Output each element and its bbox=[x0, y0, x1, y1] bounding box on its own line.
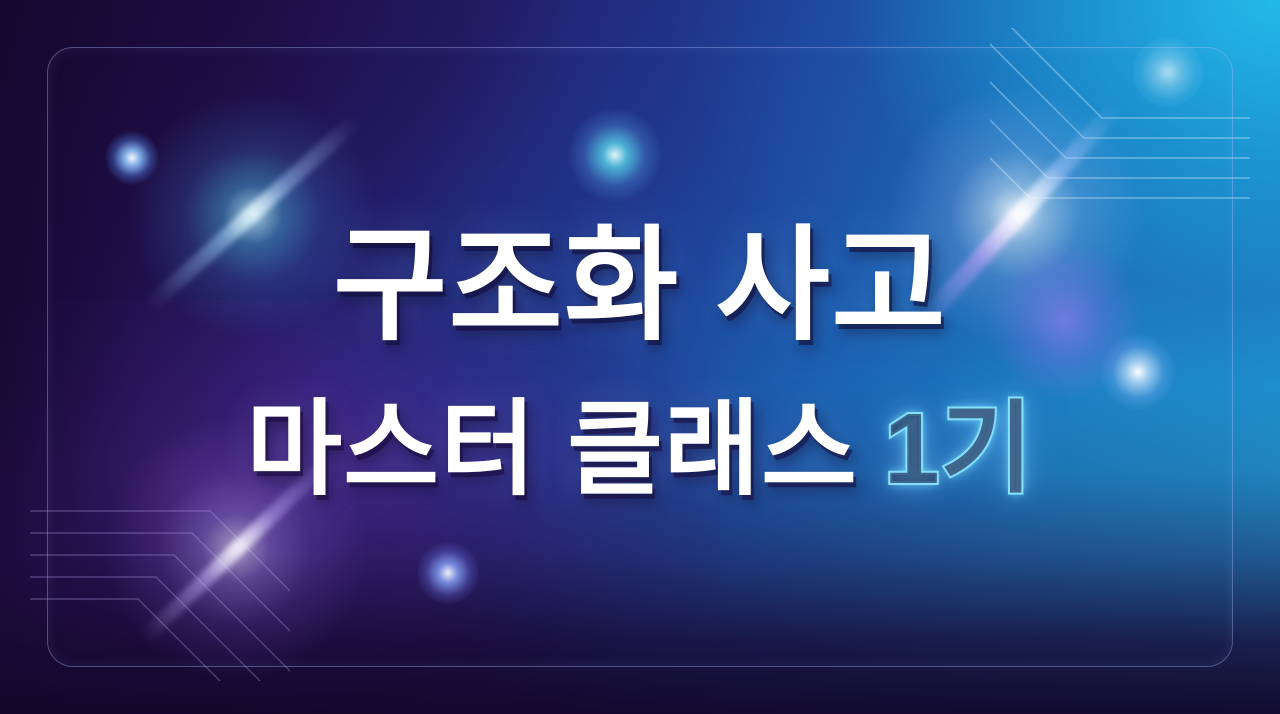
glow-dot-top-left bbox=[105, 131, 159, 185]
decorative-frame-border bbox=[47, 47, 1233, 667]
vignette-bottom bbox=[0, 384, 1280, 714]
circuit-lines-bottom-left-icon bbox=[30, 451, 290, 686]
lens-flare-left-core bbox=[103, 65, 403, 365]
vignette-top-left bbox=[0, 0, 560, 300]
glow-dot-right bbox=[1100, 334, 1176, 410]
purple-wash-overlay bbox=[0, 300, 720, 714]
title-line-2-row: 마스터 클래스1기 bbox=[0, 364, 1280, 515]
lens-flare-violet-core bbox=[86, 398, 386, 698]
lens-flare-left-streak bbox=[144, 113, 363, 312]
glow-dot-top-center bbox=[567, 107, 663, 203]
title-line-2: 마스터 클래스 bbox=[246, 392, 858, 508]
lens-flare-right-streak bbox=[917, 99, 1124, 327]
batch-badge: 1기 bbox=[884, 367, 1034, 512]
headline-block: 구조화 사고 마스터 클래스1기 bbox=[0, 224, 1280, 515]
lens-flare-right-violet bbox=[975, 232, 1155, 412]
glow-dot-bottom-mid bbox=[417, 542, 479, 604]
lens-flare-violet-streak bbox=[138, 450, 339, 645]
glow-dot-lower-right bbox=[1133, 37, 1203, 107]
vignette-left bbox=[0, 0, 320, 714]
poster-banner: 구조화 사고 마스터 클래스1기 bbox=[0, 0, 1280, 714]
title-line-1: 구조화 사고 bbox=[0, 224, 1280, 348]
circuit-lines-top-right-icon bbox=[990, 28, 1250, 263]
lens-flare-right-core bbox=[851, 49, 1181, 379]
